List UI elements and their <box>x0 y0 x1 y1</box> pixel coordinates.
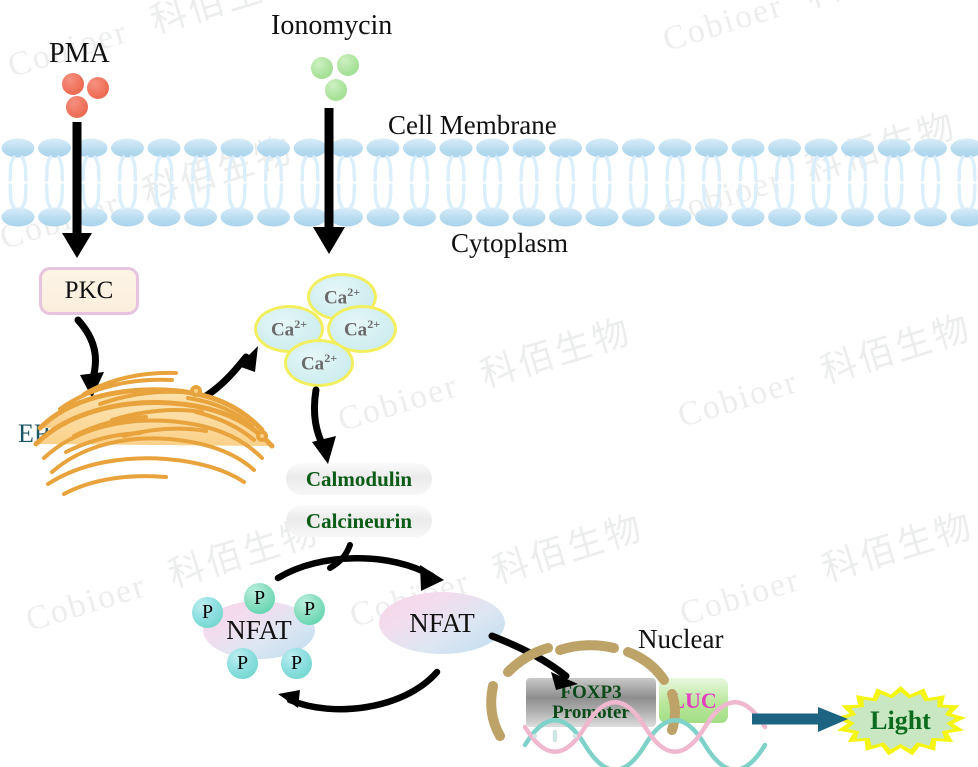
watermark-cjk: 科佰生物 <box>476 311 637 395</box>
nfat-nuclear: NFAT <box>379 592 505 654</box>
calcineurin-pill: Calcineurin <box>286 505 432 537</box>
phosphate-group-icon: P <box>227 648 258 679</box>
er-to-calcium-arrow <box>203 346 258 398</box>
phosphate-group-icon: P <box>244 583 275 614</box>
watermark-cjk: 科佰生物 <box>488 507 649 591</box>
cell-membrane-bilayer <box>0 138 978 228</box>
nfat-label: NFAT <box>226 615 292 646</box>
er-label: ER <box>18 419 51 449</box>
phosphate-group-icon: P <box>192 597 223 628</box>
calcium-charge: 2+ <box>367 317 380 331</box>
calmodulin-label: Calmodulin <box>306 467 412 492</box>
calcineurin-label: Calcineurin <box>306 509 412 534</box>
calcium-charge: 2+ <box>294 317 307 331</box>
watermark-cjk: 科佰生物 <box>801 0 962 15</box>
pma-label: PMA <box>49 38 110 70</box>
calcium-charge: 2+ <box>347 285 360 299</box>
promoter-label: Promoter <box>552 703 630 722</box>
foxp3-promoter-box: FOXP3 Promoter <box>526 678 656 727</box>
watermark-latin: Cobioer <box>334 367 463 439</box>
phosphate-label: P <box>237 652 248 675</box>
pkc-label: PKC <box>65 277 114 305</box>
calcium-ion: Ca2+ <box>284 339 354 387</box>
ionomycin-label: Ionomycin <box>271 10 392 42</box>
nfat-translocation-arrow <box>278 558 444 591</box>
calcium-symbol: Ca <box>271 319 294 340</box>
phosphate-label: P <box>304 598 315 621</box>
calmodulin-pill: Calmodulin <box>286 463 432 495</box>
pathway-diagram: Cobioer 科佰生物 Cobioer 科佰生物 Cobioer 科佰生物 C… <box>0 0 978 767</box>
watermark-latin: Cobioer <box>676 561 805 633</box>
pma-molecule-icon <box>87 77 109 99</box>
calcium-to-calmodulin-arrow <box>312 390 336 464</box>
phosphate-group-icon: P <box>294 594 325 625</box>
calcium-symbol: Ca <box>301 353 324 374</box>
watermark-latin: Cobioer <box>22 567 151 639</box>
phosphate-group-icon: P <box>281 648 312 679</box>
watermark-cjk: 科佰生物 <box>816 307 977 391</box>
ionomycin-molecule-icon <box>311 57 333 79</box>
luc-label: LUC <box>670 688 716 714</box>
light-burst-icon <box>833 685 968 757</box>
calcineurin-to-nfat-arrow <box>330 545 350 568</box>
calcium-symbol: Ca <box>324 287 347 308</box>
phosphate-label: P <box>202 601 213 624</box>
pkc-to-er-arrow <box>78 320 104 398</box>
phosphate-label: P <box>254 587 265 610</box>
watermark-cjk: 科佰生物 <box>818 505 978 589</box>
phosphate-label: P <box>291 652 302 675</box>
watermark-latin: Cobioer <box>674 363 803 435</box>
pkc-box: PKC <box>39 267 139 315</box>
watermark: Cobioer 科佰生物 <box>655 0 962 62</box>
calcium-symbol: Ca <box>344 319 367 340</box>
pma-molecule-icon <box>66 96 88 118</box>
pma-molecule-icon <box>62 73 84 95</box>
watermark: Cobioer 科佰生物 <box>0 0 307 88</box>
ionomycin-molecule-icon <box>325 79 347 101</box>
watermark: Cobioer 科佰生物 <box>670 299 977 438</box>
foxp3-label: FOXP3 <box>560 683 621 702</box>
nuclear-label: Nuclear <box>638 624 723 655</box>
ionomycin-molecule-icon <box>337 54 359 76</box>
cell-membrane-label: Cell Membrane <box>388 110 557 141</box>
cytoplasm-label: Cytoplasm <box>451 228 568 259</box>
luc-reporter-box: LUC <box>659 678 728 723</box>
watermark-latin: Cobioer <box>659 0 788 59</box>
endoplasmic-reticulum-icon <box>36 373 272 494</box>
calcium-charge: 2+ <box>324 351 337 365</box>
nfat-label: NFAT <box>409 608 475 639</box>
watermark: Cobioer 科佰生物 <box>672 497 978 636</box>
